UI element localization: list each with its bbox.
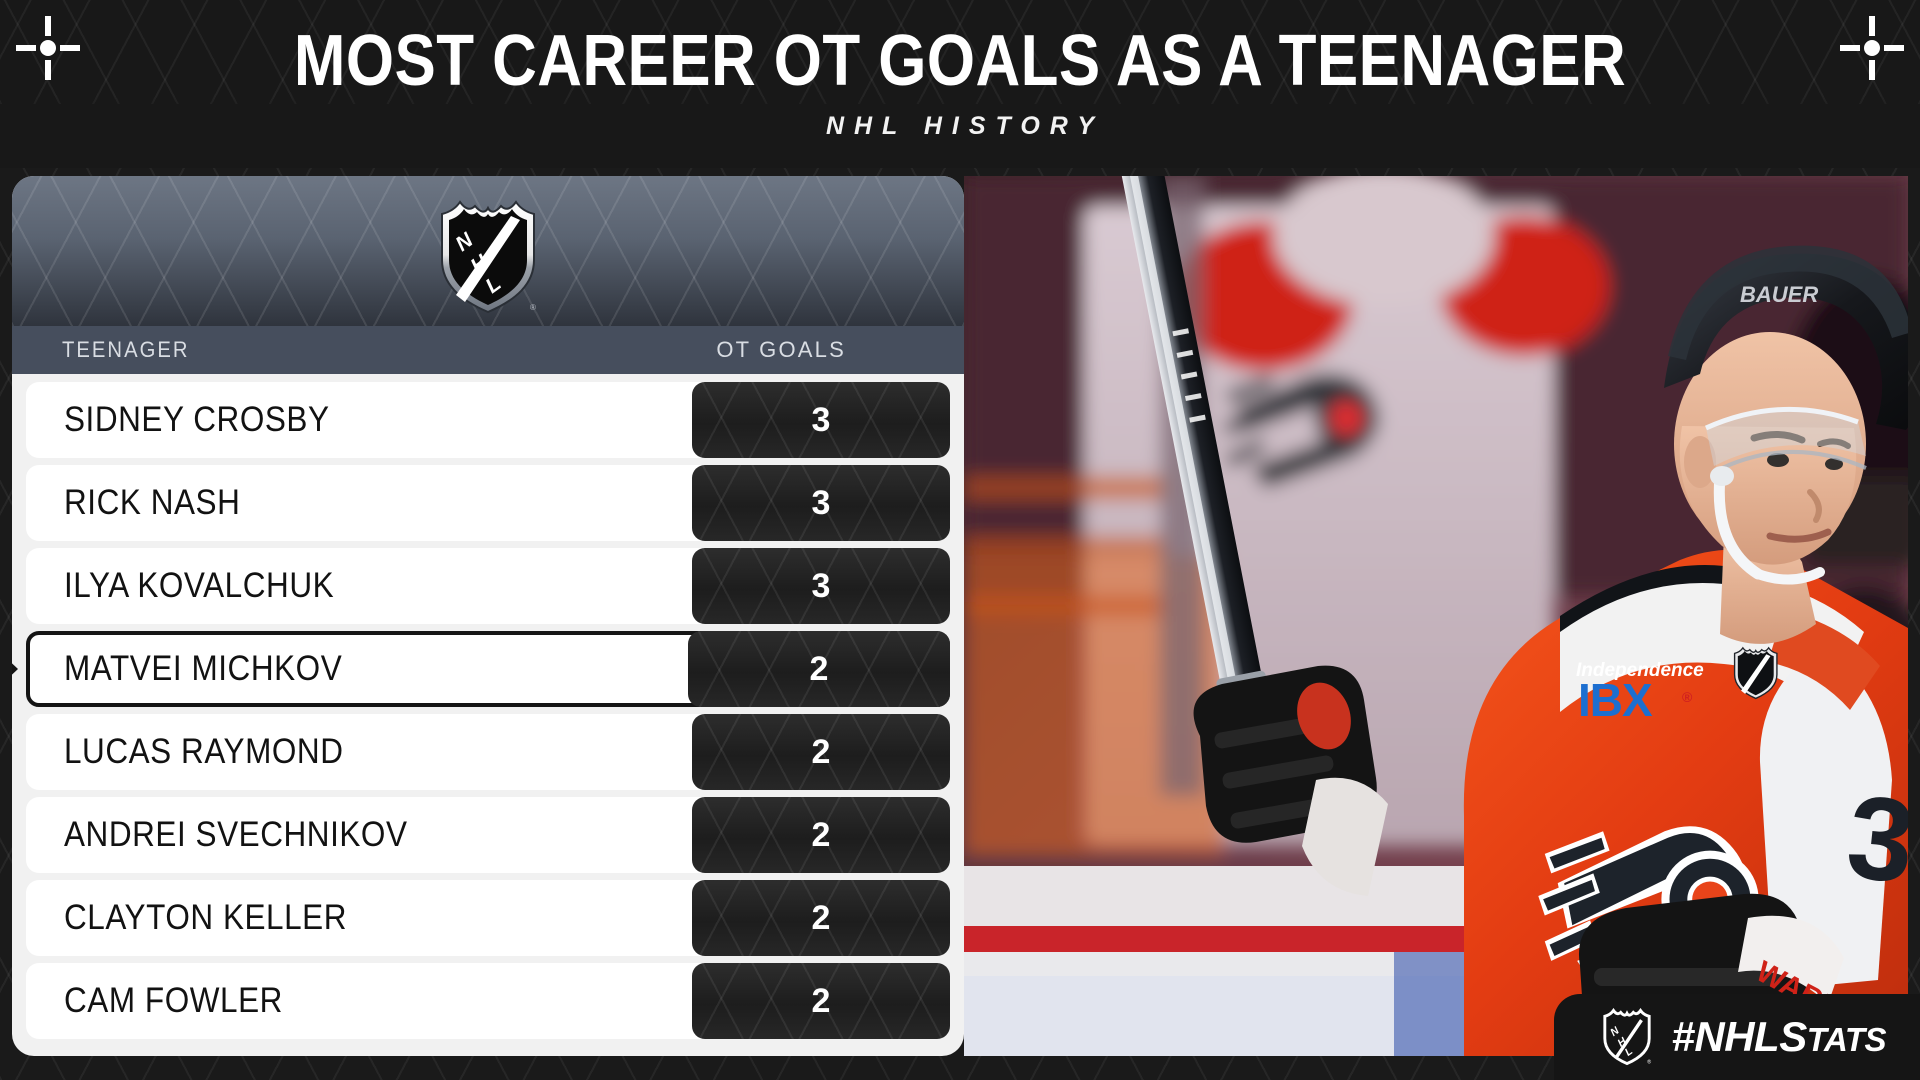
svg-text:IBX: IBX — [1578, 674, 1653, 726]
ot-goals-value: 2 — [812, 899, 831, 938]
nhl-stats-wordmark: #NHLSTATS — [1672, 1013, 1886, 1061]
value-cell: 3 — [692, 548, 950, 624]
ot-goals-value: 3 — [812, 484, 831, 523]
svg-text:BAUER: BAUER — [1740, 282, 1818, 307]
nhl-shield-icon: N H L ® — [432, 198, 544, 321]
table-row[interactable]: ANDREI SVECHNIKOV2 — [26, 797, 950, 873]
table-row[interactable]: MATVEI MICHKOV2 — [26, 631, 950, 707]
highlight-marker-icon — [12, 656, 18, 682]
stat-rows-container: SIDNEY CROSBY3RICK NASH3ILYA KOVALCHUK3M… — [12, 374, 964, 1051]
value-cell: 2 — [692, 963, 950, 1039]
player-name: RICK NASH — [64, 483, 240, 523]
ot-goals-value: 2 — [812, 733, 831, 772]
player-name: ILYA KOVALCHUK — [64, 566, 334, 606]
badge-stats-s: S — [1779, 1013, 1807, 1060]
graphic-canvas: MOST CAREER OT GOALS AS A TEENAGER NHL H… — [0, 0, 1920, 1080]
value-cell: 2 — [688, 631, 950, 707]
player-name: CLAYTON KELLER — [64, 898, 347, 938]
panel-header: N H L ® — [12, 176, 964, 326]
value-cell: 2 — [692, 797, 950, 873]
svg-text:®: ® — [1682, 689, 1693, 705]
registration-mark-left-icon — [16, 16, 80, 80]
table-row[interactable]: RICK NASH3 — [26, 465, 950, 541]
player-name: LUCAS RAYMOND — [64, 732, 343, 772]
value-cell: 3 — [692, 382, 950, 458]
table-row[interactable]: LUCAS RAYMOND2 — [26, 714, 950, 790]
badge-stats-rest: TATS — [1807, 1021, 1886, 1058]
value-cell: 2 — [692, 714, 950, 790]
player-name: MATVEI MICHKOV — [64, 649, 342, 689]
table-row[interactable]: CLAYTON KELLER2 — [26, 880, 950, 956]
svg-text:L: L — [1622, 1045, 1634, 1059]
nhl-stats-shield-icon: N H L ® — [1600, 1008, 1654, 1066]
column-header-player: TEENAGER — [62, 337, 190, 363]
player-name: CAM FOWLER — [64, 981, 283, 1021]
ot-goals-value: 2 — [812, 982, 831, 1021]
column-header-value: OT GOALS — [716, 337, 846, 363]
ot-goals-value: 2 — [812, 816, 831, 855]
ot-goals-value: 3 — [812, 401, 831, 440]
page-title: MOST CAREER OT GOALS AS A TEENAGER — [134, 24, 1785, 98]
table-row[interactable]: ILYA KOVALCHUK3 — [26, 548, 950, 624]
page-subtitle: NHL HISTORY — [0, 112, 1920, 141]
ot-goals-value: 3 — [812, 567, 831, 606]
table-row[interactable]: SIDNEY CROSBY3 — [26, 382, 950, 458]
stats-panel: N H L ® TEENAGER OT GOALS SIDNEY CROSBY3… — [12, 176, 964, 1056]
svg-text:®: ® — [530, 303, 536, 312]
svg-text:®: ® — [1647, 1059, 1651, 1066]
player-name: SIDNEY CROSBY — [64, 400, 330, 440]
table-row[interactable]: CAM FOWLER2 — [26, 963, 950, 1039]
ot-goals-value: 2 — [810, 650, 829, 689]
player-photo: 39 Independence IBX ® — [964, 176, 1908, 1056]
value-cell: 3 — [692, 465, 950, 541]
registration-mark-right-icon — [1840, 16, 1904, 80]
player-name: ANDREI SVECHNIKOV — [64, 815, 408, 855]
nhl-stats-badge: N H L ® #NHLSTATS — [1554, 994, 1920, 1080]
badge-hash: #NHL — [1672, 1013, 1780, 1060]
column-header-row: TEENAGER OT GOALS — [12, 326, 964, 374]
value-cell: 2 — [692, 880, 950, 956]
